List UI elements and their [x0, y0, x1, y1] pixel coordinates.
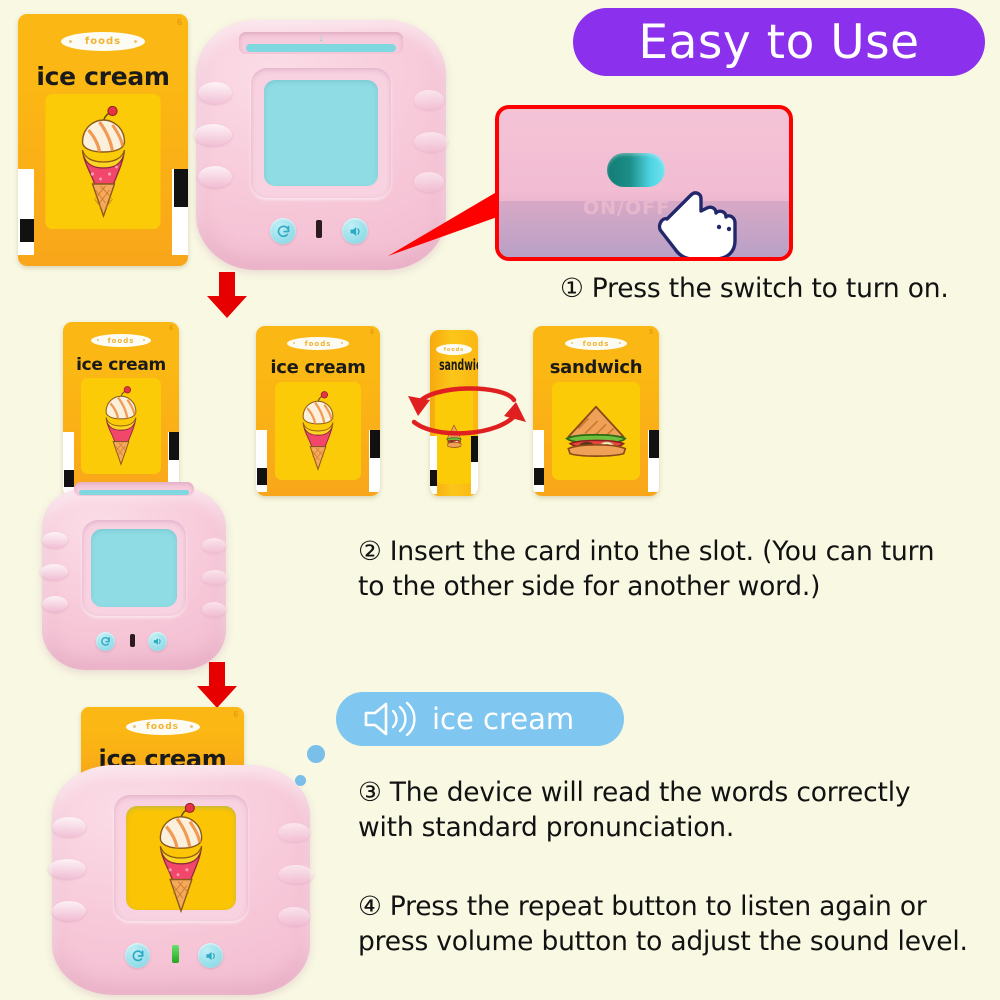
volume-button[interactable]	[148, 632, 167, 651]
flow-arrow-down-2	[195, 662, 239, 710]
bubble-dot-small	[295, 775, 306, 786]
card-category-badge: foods	[565, 337, 627, 350]
card-word: sandwich	[439, 356, 469, 374]
card-category-label: foods	[85, 36, 121, 47]
ice-cream-cone-icon	[150, 803, 212, 913]
repeat-button[interactable]	[96, 632, 115, 651]
card-number: 5	[649, 329, 653, 336]
card-slot[interactable]: ↓	[239, 32, 403, 54]
card-barcode-left	[18, 169, 34, 255]
card-barcode-right	[172, 169, 188, 255]
step-3-line-1: ③ The device will read the words correct…	[358, 776, 998, 811]
volume-button[interactable]	[342, 218, 368, 244]
callout-leader-line	[388, 190, 508, 260]
power-led	[172, 945, 179, 963]
easy-to-use-banner: Easy to Use	[573, 8, 985, 76]
rotate-arrows-icon	[396, 378, 530, 440]
flow-arrow-down-1	[205, 272, 249, 320]
switch-callout: ON/OFF	[495, 105, 793, 261]
step-4-line-2: press volume button to adjust the sound …	[358, 925, 1000, 960]
screen-frame	[251, 68, 391, 198]
volume-icon	[348, 224, 363, 239]
card-barcode-left	[533, 430, 544, 492]
card-category-badge: foods	[61, 32, 145, 51]
card-barcode-left	[63, 432, 74, 494]
flashcard-sandwich: 5 foods sandwich	[533, 326, 659, 496]
card-category-badge: foods	[436, 344, 472, 355]
step-2-line-1: ② Insert the card into the slot. (You ca…	[358, 535, 988, 570]
step-1-line-1: ① Press the switch to turn on.	[560, 272, 990, 307]
volume-icon	[152, 636, 163, 647]
card-picture-panel	[81, 378, 161, 474]
card-category-label: foods	[146, 722, 179, 732]
device-screen	[126, 806, 236, 909]
device-step2	[42, 488, 226, 670]
card-category-label: foods	[583, 340, 610, 348]
step-4-text: ④ Press the repeat button to listen agai…	[358, 890, 1000, 960]
card-category-badge: foods	[91, 334, 151, 347]
card-word: ice cream	[63, 355, 179, 375]
card-category-label: foods	[444, 347, 465, 353]
card-number: 6	[177, 17, 182, 27]
speaker-icon	[362, 700, 416, 738]
card-word: ice cream	[18, 62, 188, 91]
step-3-text: ③ The device will read the words correct…	[358, 776, 998, 846]
repeat-button[interactable]	[270, 218, 296, 244]
ice-cream-cone-icon	[296, 391, 340, 471]
flashcard-ice-cream-inserted: 6 foods ice cream	[63, 322, 179, 498]
volume-icon	[204, 949, 218, 963]
step-4-line-1: ④ Press the repeat button to listen agai…	[358, 890, 1000, 925]
step-1-text: ① Press the switch to turn on.	[560, 272, 990, 307]
repeat-icon	[276, 224, 291, 239]
repeat-icon	[131, 949, 145, 963]
step-3-line-2: with standard pronunciation.	[358, 811, 998, 846]
card-word: ice cream	[256, 357, 380, 378]
bubble-dot-medium	[307, 745, 325, 763]
card-category-label: foods	[305, 340, 332, 348]
card-barcode-right	[648, 430, 659, 492]
banner-title: Easy to Use	[638, 19, 919, 66]
card-barcode-right	[471, 436, 478, 494]
pronunciation-bubble: ice cream	[336, 692, 624, 746]
repeat-button[interactable]	[125, 943, 150, 968]
power-led	[130, 634, 135, 647]
volume-button[interactable]	[198, 943, 223, 968]
screen-frame	[82, 520, 186, 616]
step-2-text: ② Insert the card into the slot. (You ca…	[358, 535, 988, 605]
screen-frame	[114, 795, 248, 921]
card-number: 6	[169, 325, 173, 332]
card-picture-panel	[46, 94, 161, 229]
card-barcode-left	[430, 436, 437, 494]
device-screen	[264, 80, 379, 187]
ice-cream-cone-icon	[72, 106, 134, 218]
slot-down-arrow-icon: ↓	[318, 33, 324, 44]
card-picture-panel	[275, 382, 361, 480]
sandwich-icon	[558, 400, 634, 462]
card-number: 6	[370, 329, 374, 336]
repeat-icon	[100, 636, 111, 647]
card-number: 6	[234, 710, 238, 719]
power-led	[316, 220, 322, 238]
bubble-word: ice cream	[432, 702, 574, 736]
flashcard-ice-cream-top: 6 foods ice cream	[18, 14, 188, 266]
ice-cream-cone-icon	[99, 386, 143, 466]
card-picture-panel	[552, 382, 640, 480]
card-barcode-right	[369, 430, 380, 492]
step-2-line-2: to the other side for another word.)	[358, 570, 988, 605]
flashcard-flip-front: 6 foods ice cream	[256, 326, 380, 496]
card-barcode-left	[256, 430, 267, 492]
device-step3	[52, 765, 310, 995]
infographic-canvas: Easy to Use 6 foods ice cream	[0, 0, 1000, 1000]
card-category-label: foods	[108, 337, 135, 345]
card-word: sandwich	[533, 357, 659, 378]
device-screen	[91, 529, 176, 608]
pointing-hand-icon	[649, 167, 759, 261]
card-category-badge: foods	[126, 719, 200, 735]
card-slot[interactable]	[74, 482, 194, 496]
card-category-badge: foods	[287, 337, 349, 350]
